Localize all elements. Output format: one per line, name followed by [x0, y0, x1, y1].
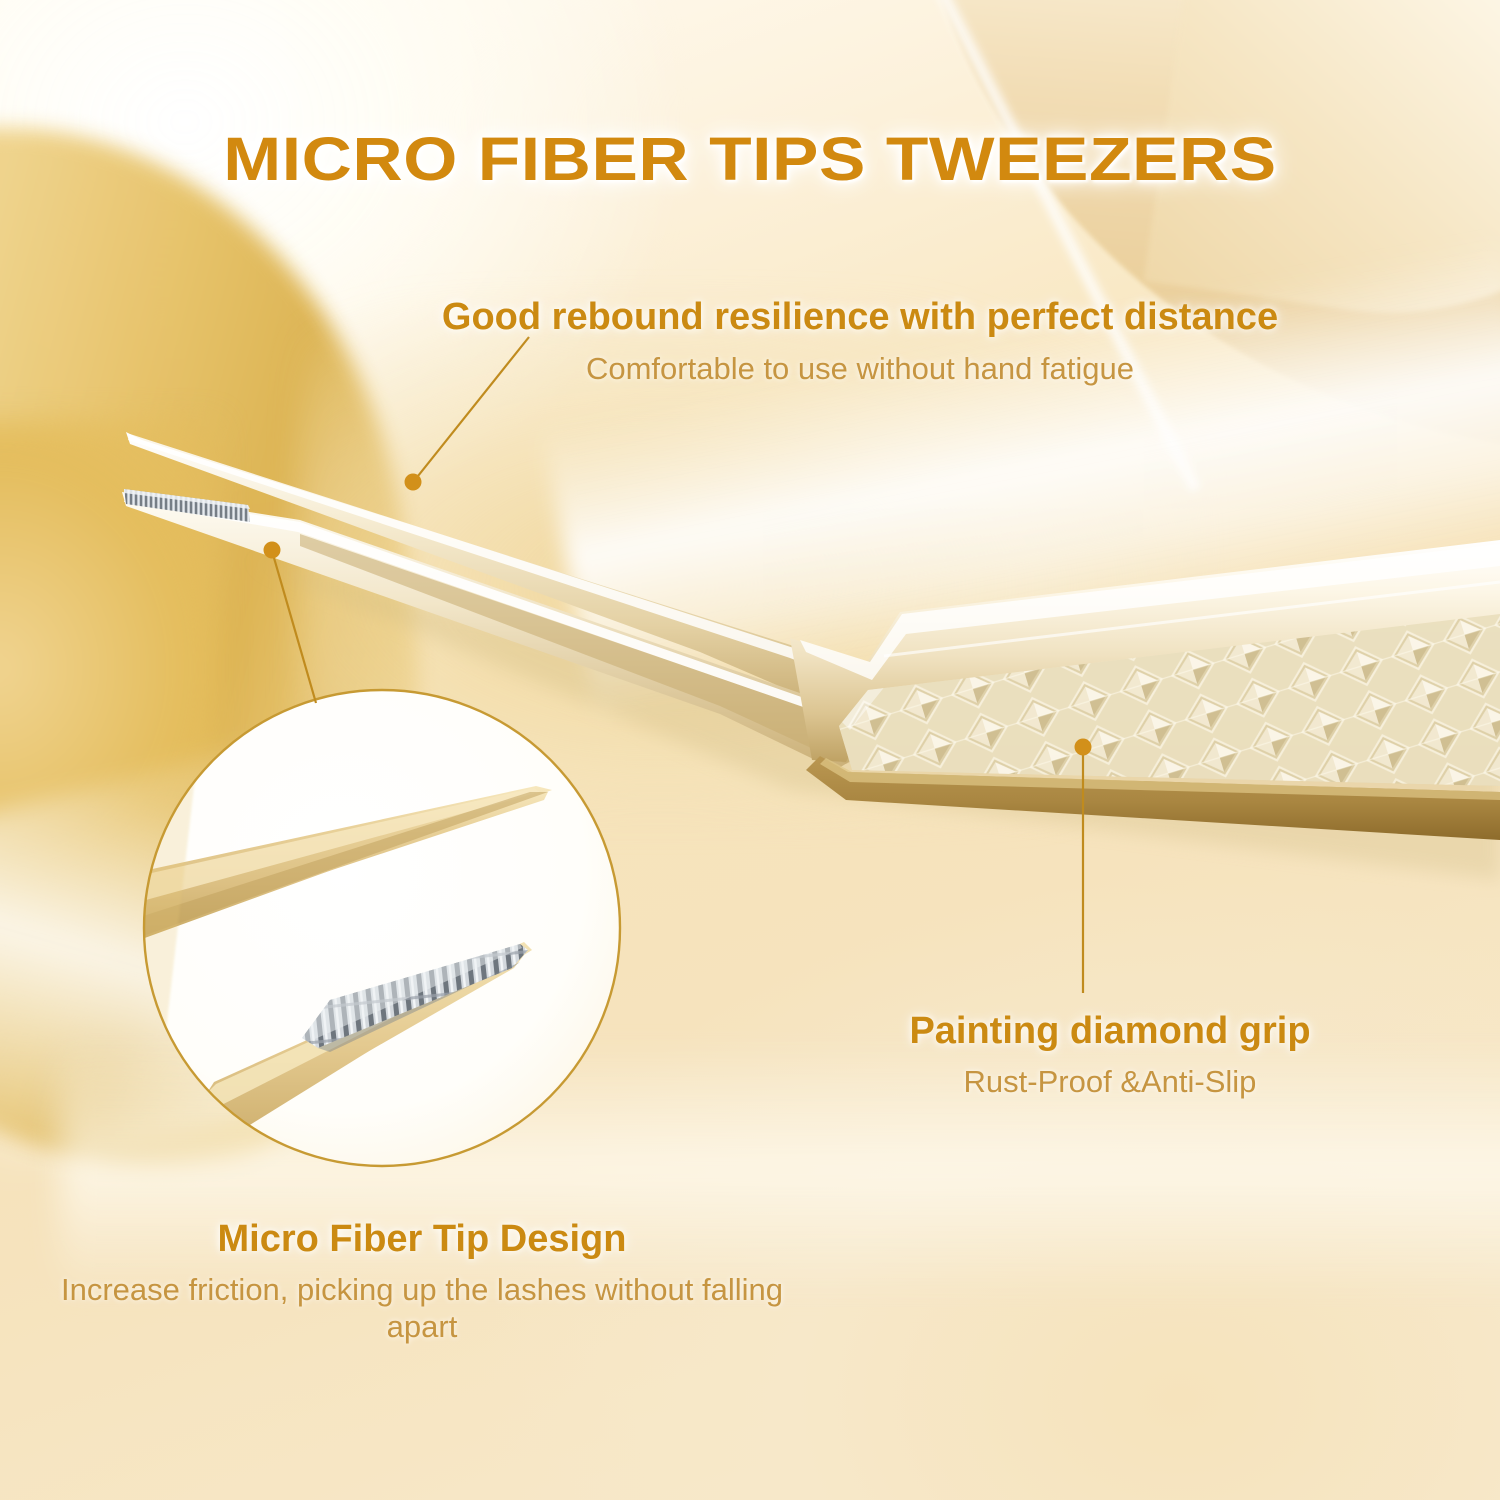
leader-dot-tip	[264, 542, 281, 559]
callout-grip-subtext: Rust-Proof &Anti-Slip	[760, 1063, 1460, 1100]
callout-rebound: Good rebound resilience with perfect dis…	[440, 296, 1280, 387]
leader-dot-rebound	[405, 474, 422, 491]
page-title: MICRO FIBER TIPS TWEEZERS	[0, 124, 1500, 194]
magnifier-circle	[110, 690, 620, 1170]
callout-grip-heading: Painting diamond grip	[760, 1010, 1460, 1053]
product-infographic: MICRO FIBER TIPS TWEEZERS Good rebound r…	[0, 0, 1500, 1500]
leader-dot-grip	[1075, 739, 1092, 756]
callout-tip-subtext: Increase friction, picking up the lashes…	[22, 1271, 822, 1345]
callout-tip-heading: Micro Fiber Tip Design	[22, 1218, 822, 1261]
callout-tip: Micro Fiber Tip Design Increase friction…	[22, 1218, 822, 1345]
callout-rebound-heading: Good rebound resilience with perfect dis…	[440, 296, 1280, 339]
callout-rebound-subtext: Comfortable to use without hand fatigue	[440, 350, 1280, 387]
callout-grip: Painting diamond grip Rust-Proof &Anti-S…	[760, 1010, 1460, 1100]
